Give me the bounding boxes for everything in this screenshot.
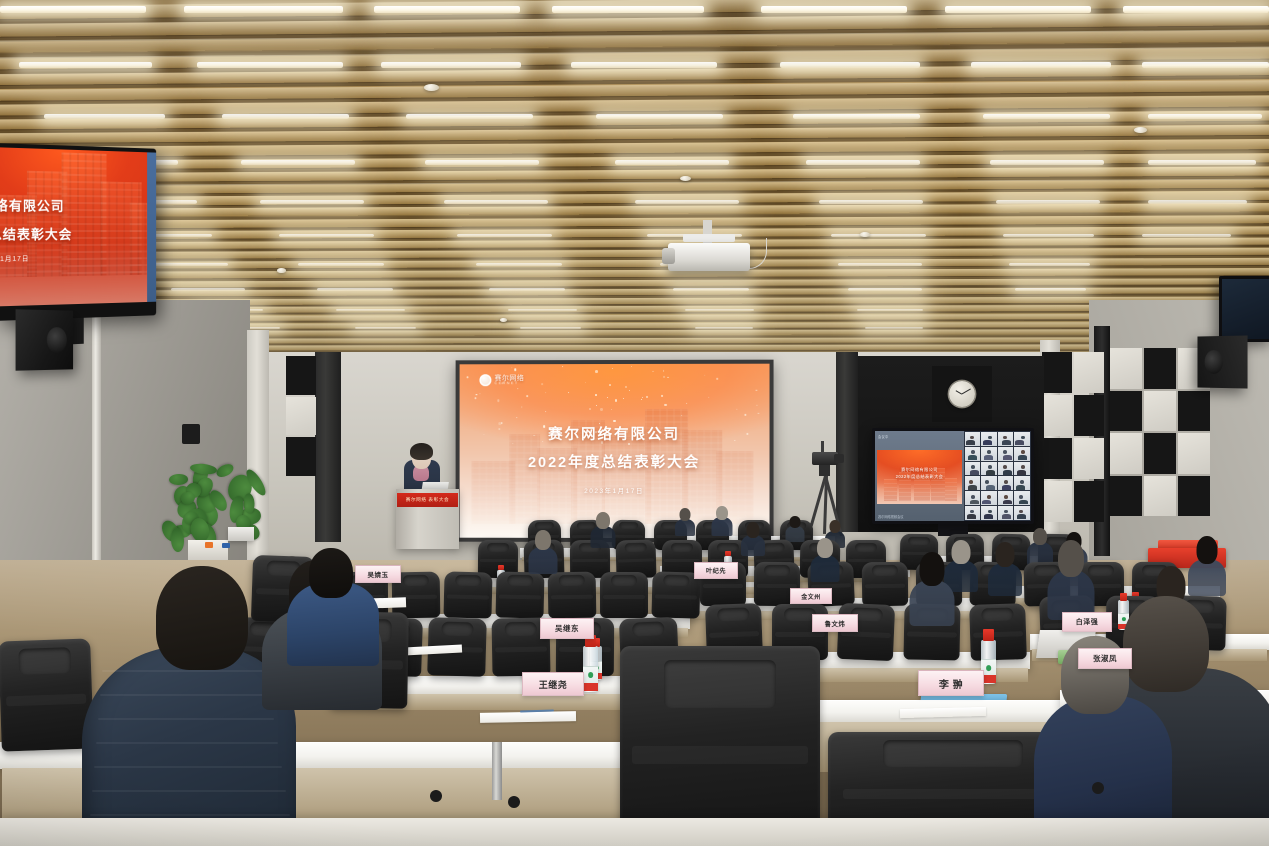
slide-sparkle [686,403,687,404]
video-participant-tile[interactable] [998,491,1014,505]
participant-head [1004,480,1008,484]
participant-head [1003,450,1007,454]
participant-head [1019,510,1023,514]
blue-marker [222,543,230,548]
participant-head [970,436,974,440]
left-display-side-strip [147,152,156,302]
small-speaker-center [182,424,200,444]
attendee-head [1197,536,1218,564]
slide-sparkle [736,409,737,410]
attendee [786,516,803,542]
video-participant-tile[interactable] [965,447,981,461]
smoke-detector [424,84,439,91]
ceiling-light-tube [945,6,1091,13]
acoustic-panel-black [1144,433,1176,474]
attendee-head [952,540,971,564]
conference-chair[interactable] [600,572,648,618]
attendee-head [309,548,353,598]
ceiling-light-tube [425,160,539,165]
podium-banner: 赛尔网络 表彰大会 [397,493,458,507]
ceiling-light-tube [457,234,552,237]
vw-building [884,479,898,501]
smoke-detector [500,318,507,322]
right-wall-display[interactable] [1219,276,1269,342]
attendee [742,522,763,556]
ceiling-light-tube [44,114,165,119]
jacket-quilt-line [96,742,278,744]
video-participant-tile[interactable] [998,447,1014,461]
chair-caster [1092,782,1104,794]
participant-body [968,485,977,490]
slide-sparkle [545,392,546,393]
slide-sparkle [497,400,499,402]
slide-sparkle [476,394,478,396]
chair-headrest-notch [664,660,776,708]
slide-sparkle [612,368,613,369]
jacket-quilt-line [98,718,274,720]
conference-chair[interactable] [837,603,895,661]
video-participant-tile[interactable] [998,506,1014,520]
acoustic-panel-white [1110,433,1142,474]
slide-sparkle [717,378,718,379]
slide-title-line2: 2022年度总结表彰大会 [460,451,770,472]
acoustic-panels-right [1042,352,1104,522]
attendee-body [988,563,1022,596]
slide-sparkle [661,395,663,397]
slide-sparkle [545,411,546,412]
pillar-left-dark [315,352,341,542]
ceiling-light-tube [831,234,926,237]
vw-share-line1: 赛尔网络有限公司 [877,466,962,473]
ceiling-light-tube [857,309,923,311]
left-display-date: 年1月17日 [0,252,29,263]
attendee-head [920,552,945,586]
acoustic-panel-black [1178,391,1210,432]
slide-sparkle [631,366,632,367]
video-participant-tile[interactable] [965,432,981,446]
participant-body [1017,470,1026,475]
participant-head [988,465,992,469]
participant-body [1017,514,1026,519]
name-placard: 王继尧 [522,672,584,696]
ceiling-light-tube [1148,160,1256,165]
participant-head [1020,480,1024,484]
acoustic-panel-white [1074,438,1104,479]
attendee-head [1033,528,1047,545]
video-conference-wall[interactable]: 会议中 赛尔网络有限公司 2022年度总结表彰大会 赛尔网络视频会议 [872,428,1034,524]
ceiling-light-tube [298,263,384,266]
vw-share-line2: 2022年度总结表彰大会 [877,473,962,480]
slide-sparkle [607,397,608,398]
slide-sparkle [646,396,648,398]
acoustic-panel-black [286,437,316,476]
chair-caster [430,790,442,802]
slide-sparkle [526,396,528,398]
ceiling-light-tube [635,200,739,204]
cernet-logo-en: CERNET [495,382,525,386]
video-participant-tile[interactable] [981,447,997,461]
slide-sparkle [595,370,597,373]
slide-title-block: 赛尔网络有限公司 2022年度总结表彰大会 2023年1月17日 [460,423,770,495]
vw-building [945,478,957,501]
ceiling-light-tube [780,62,920,68]
chair-headrest-notch [504,622,537,636]
conference-chair[interactable] [969,603,1027,661]
left-display-line2: 总结表彰大会 [0,224,72,244]
wall-speaker-right [1197,335,1247,388]
chair-headrest-notch [632,621,665,636]
chair-headrest-notch [402,575,429,586]
chair-lumbar-rail [551,595,593,600]
chair-lumbar-rail [865,584,906,588]
wall-speaker-left [16,309,74,370]
attendee [592,512,614,548]
attendee [990,542,1020,596]
slide-title-line1: 赛尔网络有限公司 [460,423,770,444]
attendee-head [596,512,610,529]
jacket-quilt-line [94,766,282,768]
plant-leaf [215,461,236,479]
video-wall-slide-text: 赛尔网络有限公司 2022年度总结表彰大会 [877,466,962,480]
chair-headrest-notch [872,565,898,576]
video-participant-tile[interactable] [981,506,997,520]
bottle-label-logo [986,665,992,671]
attendee-head [535,530,551,550]
projector-mount-arm [683,234,735,242]
chair-headrest-notch [611,575,638,586]
acoustic-panel-black [1110,391,1142,432]
left-display-line1: 络有限公司 [0,195,64,215]
video-wall-bottom-label: 赛尔网络视频会议 [878,514,904,519]
slide-sparkle [521,406,522,407]
conference-chair[interactable] [443,571,492,618]
acoustic-panel-black [1074,395,1104,436]
participant-head [971,465,975,469]
chair-lumbar-rail [603,595,645,599]
slide-sparkle [667,377,669,379]
chair-lumbar-rail [775,632,824,637]
attendee [812,538,838,582]
ceiling-light-tube [374,6,520,13]
slide-sparkle [479,393,480,394]
ceiling-light-tube [336,309,405,311]
participant-body [983,440,992,445]
name-placard: 叶纪先 [694,562,738,579]
slide-sparkle [625,386,626,387]
chair-headrest-notch [441,622,474,637]
attendee-head [1058,540,1084,577]
ceiling-light-tube [184,6,343,13]
left-display-stand [72,318,84,344]
ceiling-light-tube [596,114,723,119]
video-wall-shared-slide: 赛尔网络有限公司 2022年度总结表彰大会 [877,450,962,504]
ceiling-light-tube [806,160,920,165]
name-placard: 白泽强 [1062,612,1112,632]
video-participant-tile[interactable] [1014,491,1030,505]
acoustic-panel-white [286,397,316,436]
participant-body [1016,485,1025,490]
smoke-detector [277,268,286,273]
ceiling-light-tube [1123,6,1269,13]
slide-sparkle [663,376,665,378]
participant-head [987,450,991,454]
video-participant-tile[interactable] [998,462,1014,476]
bottle-label-red-band [583,683,598,691]
attendee-body [529,547,558,574]
acoustic-panel-black [1042,438,1072,479]
left-display-screen: 络有限公司 总结表彰大会 年1月17日 [0,147,150,306]
conference-room-photo: 络有限公司 总结表彰大会 年1月17日 赛尔网络 CERNET [0,0,1269,846]
slide-sparkle [516,417,517,418]
attendee-head [830,520,841,533]
ceiling-light-tube [19,62,152,68]
jacket-quilt-line [102,670,266,672]
ceiling-light-tube [1015,288,1086,291]
acoustic-panel-white [1074,352,1104,393]
conference-chair[interactable] [620,646,820,846]
chair-lumbar-rail [703,584,743,588]
ceiling-light-tube [1009,263,1090,266]
water-bottle [583,646,598,692]
speaker-cone-left [47,327,67,353]
participant-body [984,455,993,460]
participant-head [987,495,991,499]
projector-lens [662,248,675,264]
ceiling-light-tube [355,327,416,329]
attendee-head [996,542,1015,567]
attendee [712,506,731,536]
chair-base-column [492,742,502,800]
slide-sparkle [585,382,586,383]
ceiling-light-tube [819,200,923,204]
slide-sparkle [596,405,597,406]
chair-headrest-notch [883,740,1023,767]
conference-chair[interactable] [0,638,94,751]
conference-chair[interactable] [548,572,597,619]
video-participant-tile[interactable] [1014,447,1030,461]
video-participant-tile[interactable] [1014,462,1030,476]
attendee [530,530,556,574]
video-participant-tile[interactable] [965,491,981,505]
ceiling-light-tube [793,114,920,119]
bottle-label-logo [588,672,594,678]
jacket-quilt-line [92,790,286,792]
front-desk-edge [0,818,1269,846]
participant-body [968,455,977,460]
video-participant-tile[interactable] [998,432,1014,446]
video-participant-tile[interactable] [1014,506,1030,520]
chair-headrest-notch [764,565,790,576]
chair-headrest-notch [762,542,785,552]
acoustic-panels-left [286,356,316,476]
ceiling-light-tube [171,288,245,291]
chair-lumbar-rail [907,632,956,638]
ceiling-light-tube [222,114,349,119]
video-participant-tile[interactable] [965,476,981,490]
conference-chair[interactable] [496,571,545,618]
camera-lens [834,454,844,463]
ceiling-light-tube [1142,62,1269,68]
participant-body [1003,500,1012,505]
attendee-body [811,555,840,582]
slide-sparkle [708,397,709,398]
slide-sparkle [757,405,758,406]
participant-head [1004,495,1008,499]
right-display-screen [1222,279,1269,339]
video-participant-tile[interactable] [965,462,981,476]
chair-headrest-notch [619,522,638,530]
name-placard: 张淑凤 [1078,648,1132,669]
participant-body [1003,455,1012,460]
slide-sparkle [623,398,624,399]
chair-headrest-notch [663,575,690,587]
slide-building-graphic [460,364,770,365]
ceiling-light-tube [508,309,577,311]
ceiling-light-tube [279,234,374,237]
podium-banner-text: 赛尔网络 表彰大会 [406,497,449,503]
ceiling-light-tube [685,309,754,311]
ceiling-light-tube [1003,234,1094,237]
participant-head [1021,450,1025,454]
plant-leaf [169,474,188,485]
chair-headrest-notch [624,542,647,552]
attendee [676,508,694,536]
ceiling-light-tube [1148,114,1262,119]
smoke-detector [680,176,691,181]
chair-headrest-notch [487,543,509,552]
ceiling-light-tube [317,288,393,291]
slide-sparkle [652,371,654,373]
ceiling-light-tube [673,288,749,291]
attendee-head [716,506,728,520]
chair-headrest-notch [982,607,1014,621]
slide-sparkle [758,413,759,414]
bottle-cap [498,565,504,571]
participant-head [1021,465,1025,469]
acoustic-panel-black [286,356,316,395]
side-laptop [228,527,254,541]
ceiling-light-tube [406,114,533,119]
slide-sparkle [595,394,597,396]
ceiling-light-tube [1148,200,1247,204]
ceiling-light-tube [761,6,907,13]
video-participant-tile[interactable] [1014,432,1030,446]
ceiling-light-tube [571,62,717,68]
video-participant-tile[interactable] [1014,476,1030,490]
smoke-detector [860,232,870,237]
acoustic-panel-black [1074,481,1104,522]
video-participant-tile[interactable] [981,432,997,446]
slide-sparkle [609,384,610,386]
ceiling-projector [668,243,750,271]
slide-sparkle [589,408,591,410]
ceiling-light-tube [695,327,753,329]
ceiling-light-tube [990,160,1104,165]
slide-sparkle [613,420,615,422]
participant-body [986,470,995,475]
ceiling-light-tube [489,288,565,291]
participant-body [966,440,975,445]
slide-sparkle [663,370,665,372]
speaker-cone-right [1205,350,1223,374]
conference-chair[interactable] [862,562,909,607]
ceiling-light-tube [381,62,521,68]
acoustic-panel-black [1042,352,1072,393]
participant-body [982,500,991,505]
slide-sparkle [745,413,747,415]
ceiling-light-tube [865,327,923,329]
participant-head [1019,495,1023,499]
acoustic-panel-white [1144,476,1176,517]
participant-head [1003,436,1007,440]
ceiling-light-tube [983,114,1110,119]
participant-body [970,470,979,475]
attendee-head [789,516,800,528]
acoustic-panel-black [1178,476,1210,517]
name-placard: 金文州 [790,588,832,604]
clock-minute-hand [962,388,971,394]
bottle-cap [983,629,994,640]
video-participant-tile[interactable] [981,462,997,476]
cernet-logo-mark [480,375,492,387]
podium: 赛尔网络 表彰大会 [396,489,459,549]
video-participant-tile[interactable] [981,491,997,505]
left-wall-display[interactable]: 络有限公司 总结表彰大会 年1月17日 [0,143,156,321]
chair-headrest-notch [855,543,877,552]
video-participant-tile[interactable] [981,476,997,490]
slide-sparkle [517,388,518,389]
participant-body [1003,470,1012,475]
attendee-body [675,519,695,536]
participant-head [970,510,974,514]
ceiling-light-tube [971,62,1111,68]
video-participant-tile[interactable] [998,476,1014,490]
participant-head [971,450,975,454]
ceiling-light-tube [476,263,562,266]
video-wall-participant-grid[interactable] [964,431,1031,521]
slide-sparkle [629,390,630,391]
name-placard: 李 翀 [918,670,984,696]
attendee-head [680,508,691,521]
ceiling-light-tube [838,263,922,266]
attendee-body [741,535,765,556]
acoustic-panel-white [1110,348,1142,389]
participant-head [988,510,992,514]
ceiling-light-tube [197,62,343,68]
attendee-head [156,566,248,670]
ceiling-light-tube [260,200,364,204]
participant-body [984,514,993,519]
slide-sparkle [568,392,569,393]
ceiling-light-tube [848,288,922,291]
ceiling-light-tube [0,6,146,13]
participant-body [970,500,979,505]
participant-body [1002,485,1011,490]
slide-sparkle [755,390,757,392]
slide-sparkle [467,377,469,379]
acoustic-panel-black [1144,348,1176,389]
participant-body [986,485,995,490]
jacket-quilt-line [100,694,270,696]
chair-headrest-notch [507,575,534,587]
attendee [1028,528,1051,566]
bottle-cap [725,551,731,556]
acoustic-panel-black [1110,476,1142,517]
participant-body [967,514,976,519]
video-participant-tile[interactable] [965,506,981,520]
attendee [1190,536,1224,596]
slide-confetti-sparkles [460,364,770,365]
